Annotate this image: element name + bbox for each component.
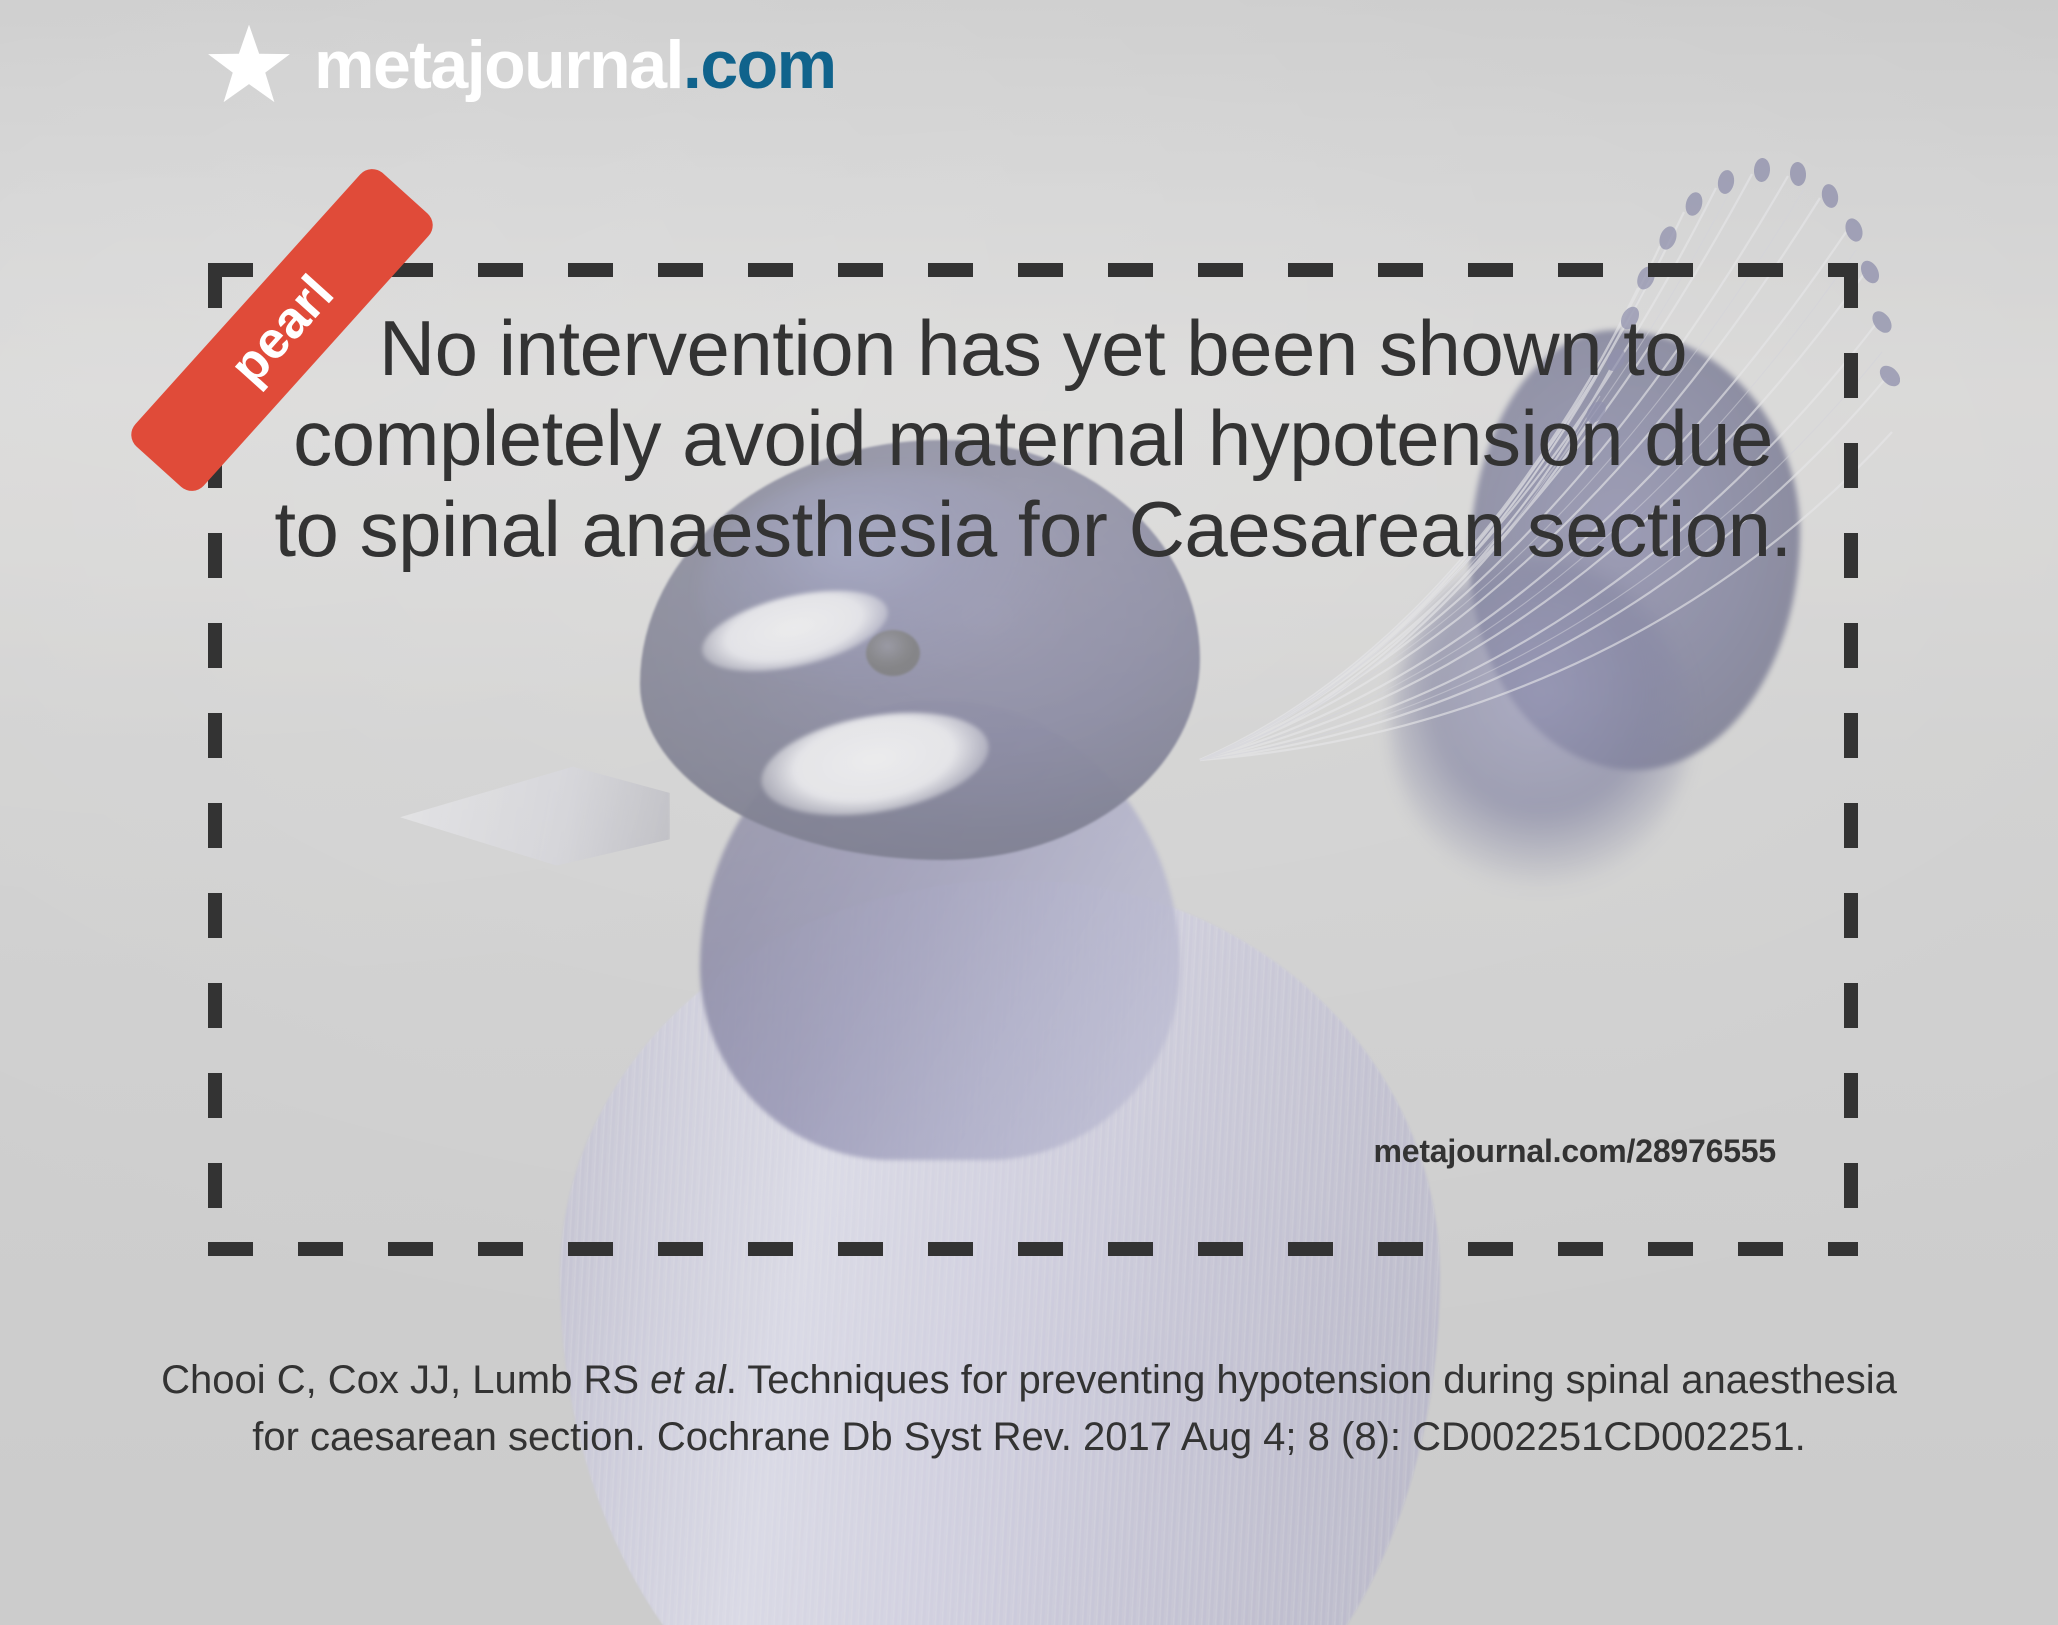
- brand-logo[interactable]: metajournal.com: [206, 22, 836, 108]
- citation: Chooi C, Cox JJ, Lumb RS et al. Techniqu…: [150, 1352, 1908, 1466]
- star-icon: [206, 22, 292, 108]
- citation-et-al: et al: [650, 1358, 726, 1402]
- pearl-quote-text: No intervention has yet been shown to co…: [268, 303, 1798, 574]
- source-url[interactable]: metajournal.com/28976555: [1373, 1133, 1776, 1170]
- pearl-quote-box: No intervention has yet been shown to co…: [208, 263, 1858, 1256]
- brand-wordmark: metajournal.com: [314, 31, 836, 99]
- citation-issue-pages: (8): CD002251CD002251.: [1341, 1415, 1806, 1459]
- brand-tld: .com: [683, 27, 836, 103]
- citation-authors: Chooi C, Cox JJ, Lumb RS: [161, 1358, 639, 1402]
- citation-journal: Cochrane Db Syst Rev.: [646, 1415, 1072, 1459]
- pearl-card-image: metajournal.com No intervention has yet …: [0, 0, 2058, 1625]
- citation-date: 2017 Aug 4; 8: [1072, 1415, 1330, 1459]
- brand-name: metajournal: [314, 27, 683, 103]
